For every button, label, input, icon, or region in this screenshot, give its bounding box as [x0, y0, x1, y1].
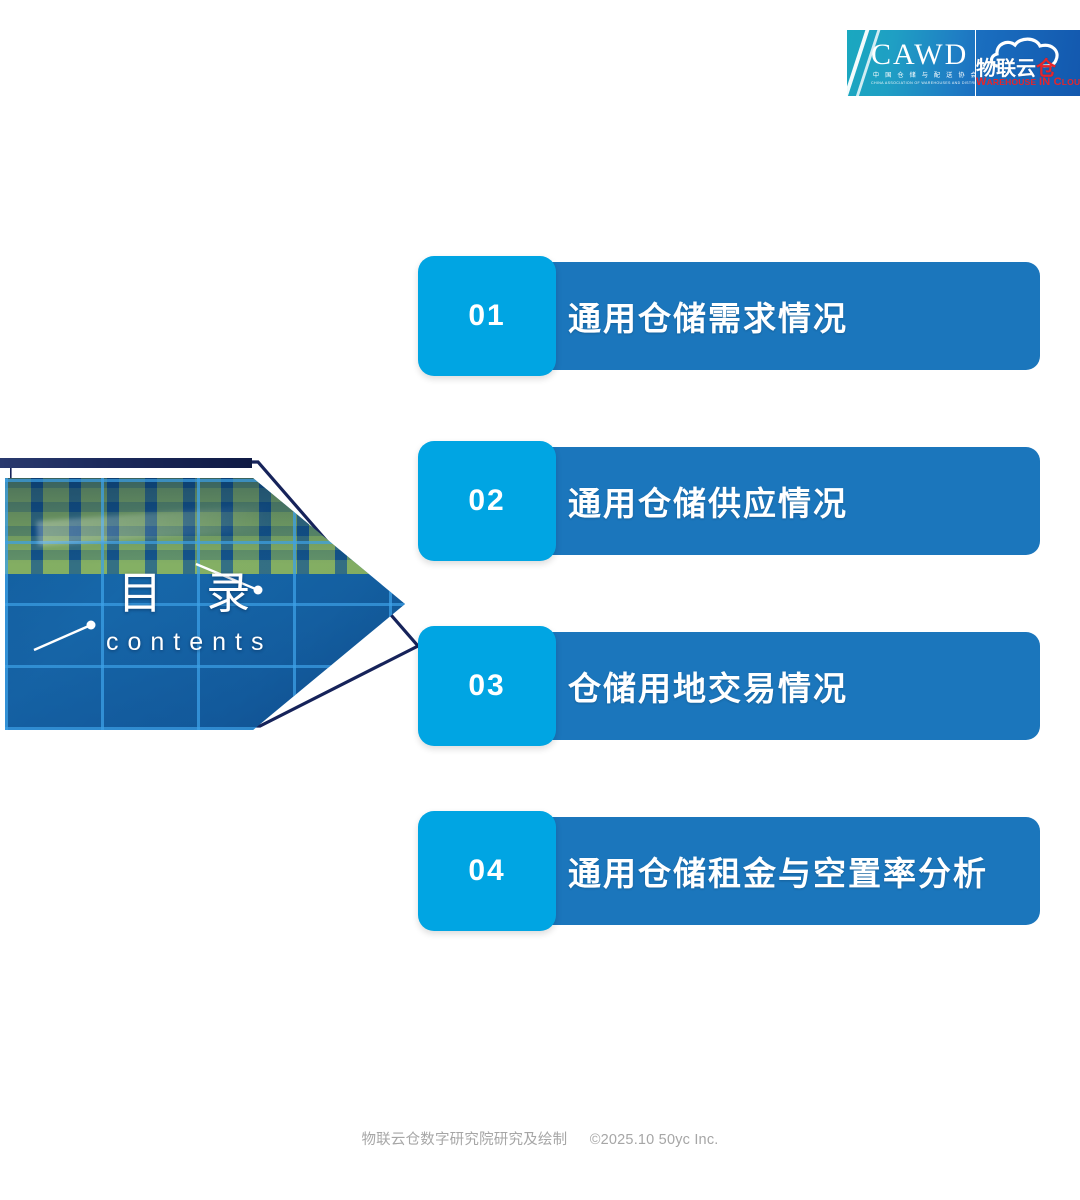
toc-item-04[interactable]: 通用仓储租金与空置率分析 04 — [418, 811, 1040, 931]
toc-item-number: 03 — [468, 669, 505, 703]
toc-item-number: 01 — [468, 299, 505, 333]
toc-item-label: 通用仓储需求情况 — [568, 256, 848, 376]
toc-item-01[interactable]: 通用仓储需求情况 01 — [418, 256, 1040, 376]
contents-artwork: 目 录 contents — [0, 450, 420, 750]
wic-logo: 物联云仓 WAREHOUSE IN CLOUD — [976, 30, 1080, 96]
toc-number-badge: 03 — [418, 626, 556, 746]
footer: 物联云仓数字研究院研究及绘制 ©2025.10 50yc Inc. — [0, 1128, 1080, 1149]
cawd-acronym: CAWD — [871, 40, 967, 70]
contents-title-cn: 目 录 — [118, 557, 266, 621]
toc-item-02[interactable]: 通用仓储供应情况 02 — [418, 441, 1040, 561]
cawd-english-name: CHINA ASSOCIATION OF WAREHOUSES AND DIST… — [871, 82, 967, 86]
toc-item-number: 04 — [468, 854, 505, 888]
toc-item-label: 仓储用地交易情况 — [568, 626, 848, 746]
toc-number-badge: 04 — [418, 811, 556, 931]
navy-strip-decoration — [0, 458, 252, 468]
toc-number-badge: 02 — [418, 441, 556, 561]
contents-title-en: contents — [106, 628, 273, 657]
cawd-logo: CAWD 中 国 仓 储 与 配 送 协 会 CHINA ASSOCIATION… — [847, 30, 975, 96]
brand-logo: CAWD 中 国 仓 储 与 配 送 协 会 CHINA ASSOCIATION… — [847, 30, 1080, 96]
wic-tagline: WAREHOUSE IN CLOUD — [976, 77, 1080, 87]
toc-item-label: 通用仓储供应情况 — [568, 441, 848, 561]
toc-item-number: 02 — [468, 484, 505, 518]
footer-copyright: ©2025.10 50yc Inc. — [590, 1132, 719, 1148]
toc-item-03[interactable]: 仓储用地交易情况 03 — [418, 626, 1040, 746]
cawd-chinese-name: 中 国 仓 储 与 配 送 协 会 — [873, 74, 965, 80]
toc-item-label: 通用仓储租金与空置率分析 — [568, 811, 988, 931]
toc-number-badge: 01 — [418, 256, 556, 376]
footer-credit: 物联云仓数字研究院研究及绘制 — [361, 1132, 567, 1148]
toc-list: 通用仓储需求情况 01 通用仓储供应情况 02 仓储用地交易情况 03 通用仓储… — [418, 256, 1040, 996]
